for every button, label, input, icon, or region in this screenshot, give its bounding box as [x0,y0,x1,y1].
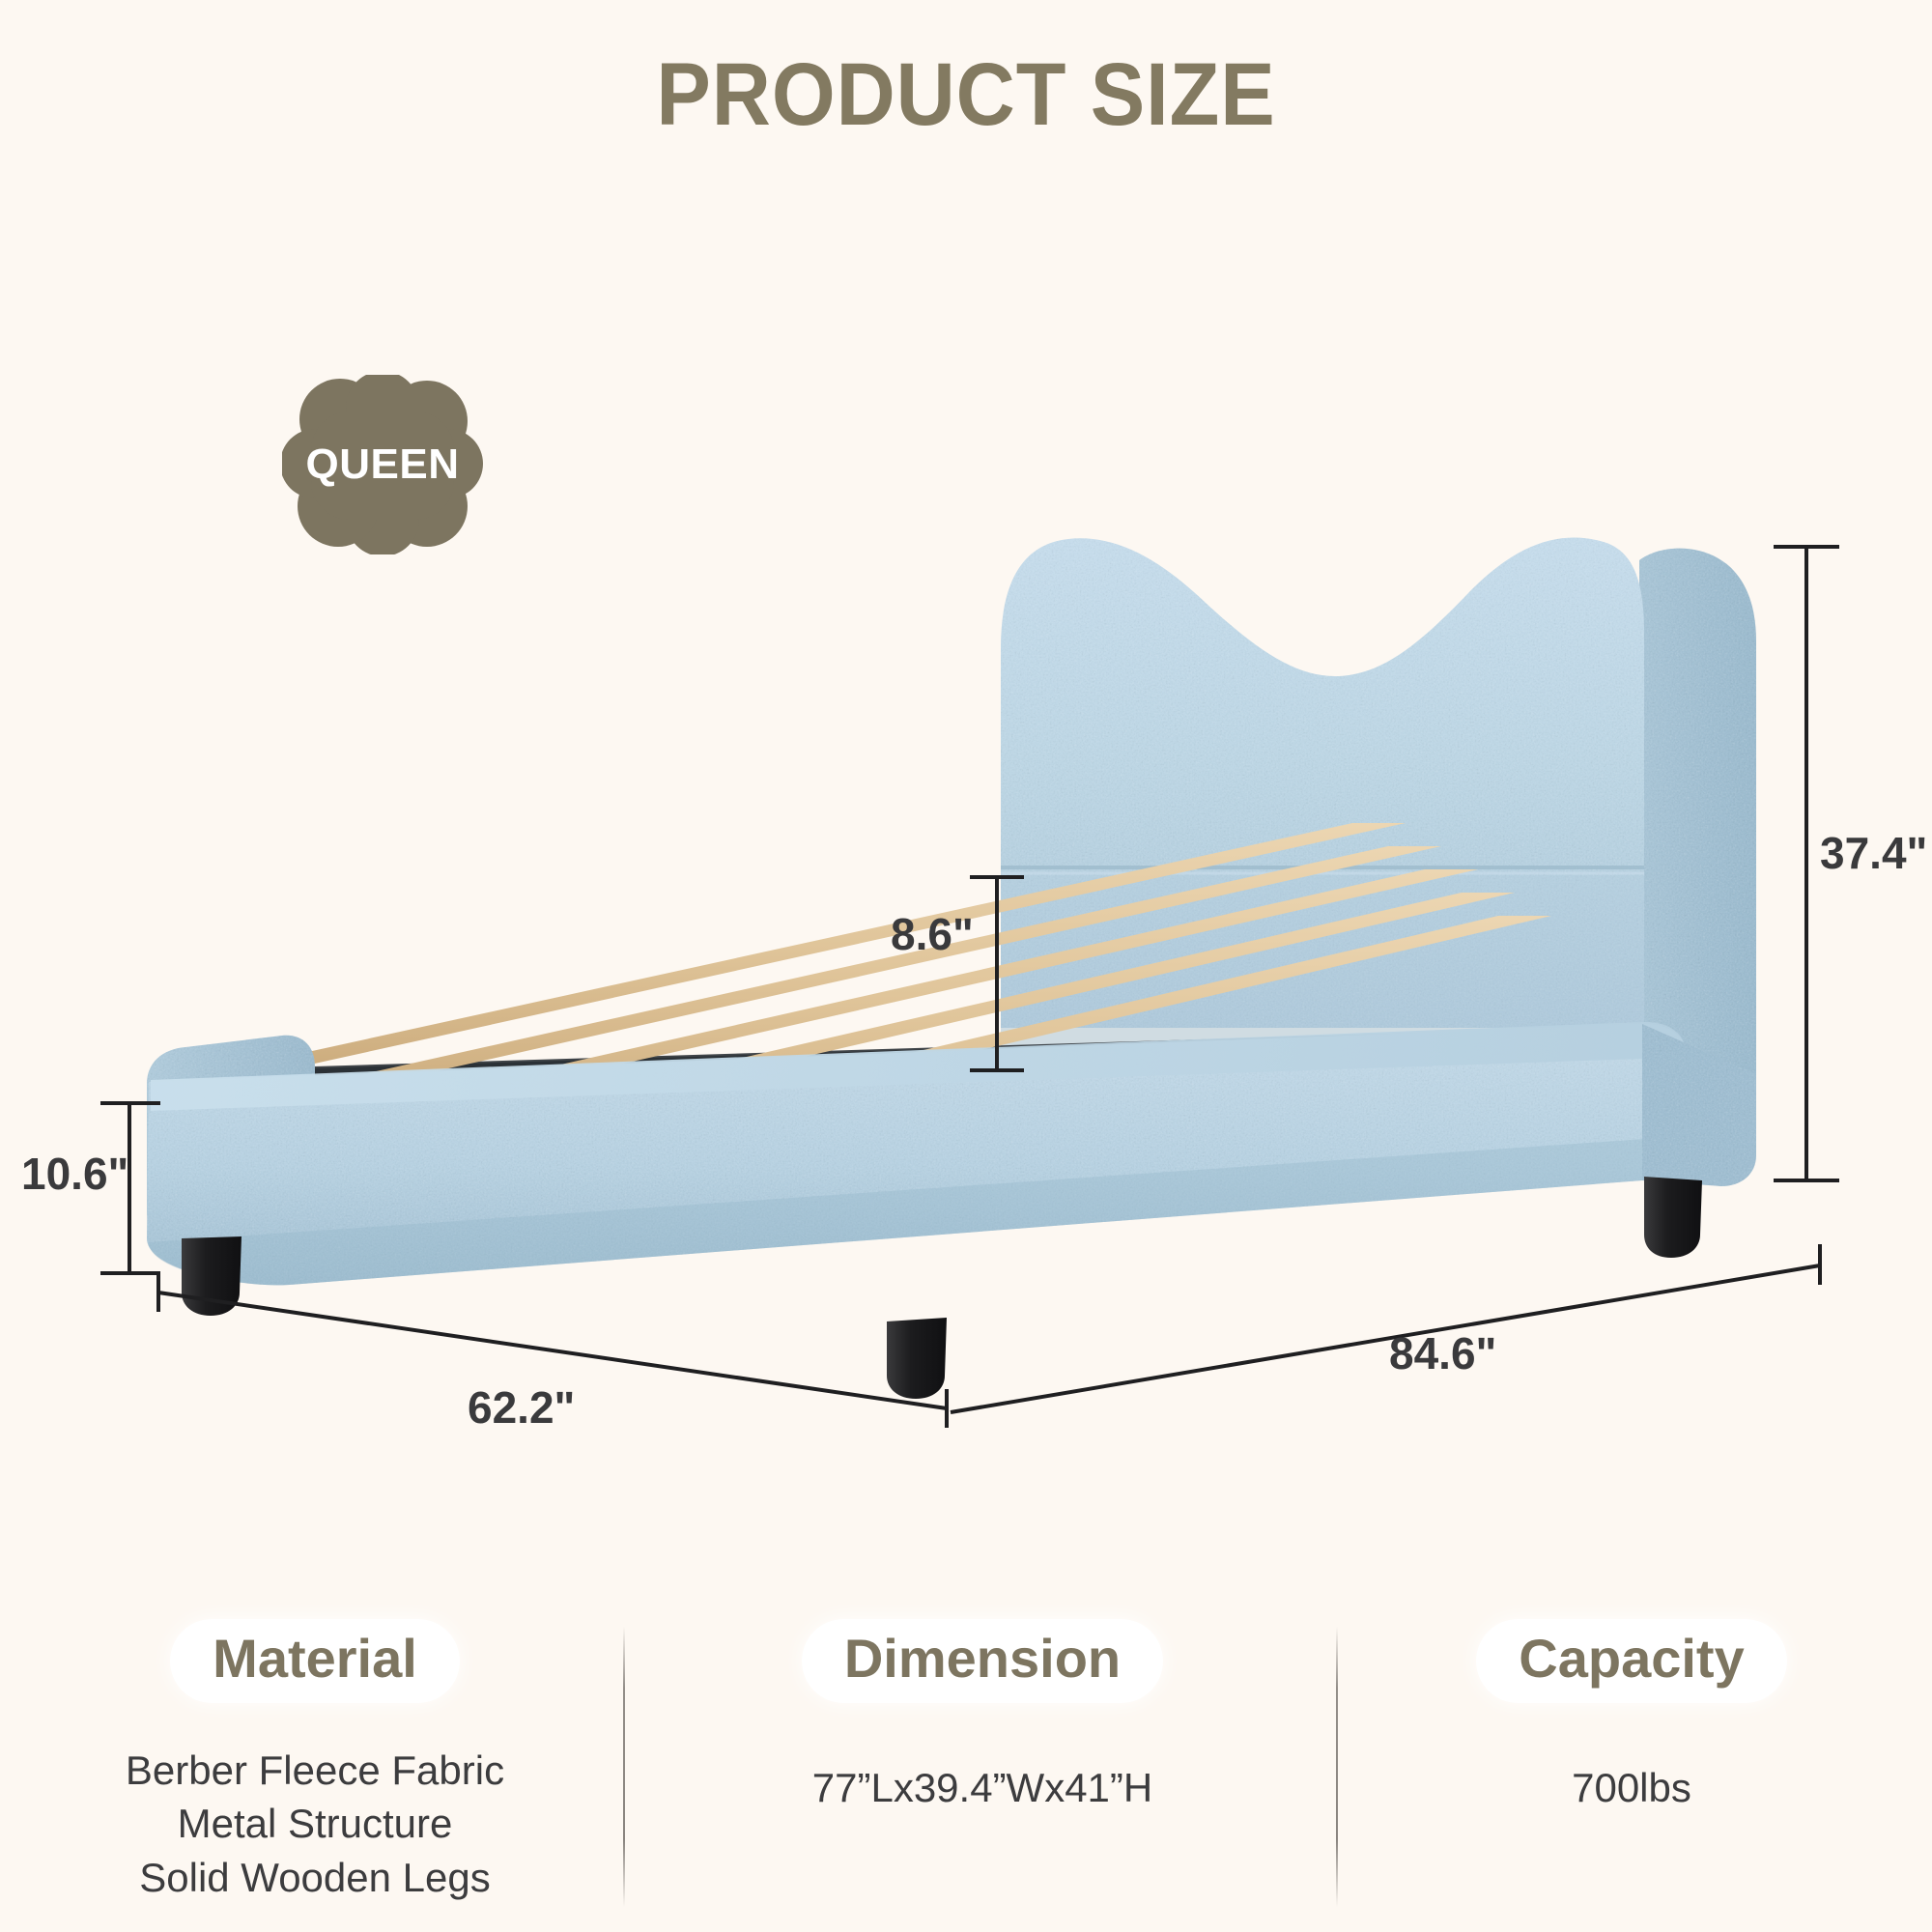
spec-body-dimension: 77”Lx39.4”Wx41”H [649,1761,1316,1814]
dimension-label-total-height: 37.4" [1820,827,1927,879]
spec-heading-capacity: Capacity [1476,1619,1786,1703]
dimension-label-width: 62.2" [468,1381,575,1434]
spec-column-dimension: Dimension 77”Lx39.4”Wx41”H [649,1619,1316,1814]
spec-strip: Material Berber Fleece Fabric Metal Stru… [0,1619,1932,1932]
spec-heading-dimension: Dimension [802,1619,1163,1703]
infographic-canvas: PRODUCT SIZE QUEEN [0,0,1932,1932]
spec-divider-2 [1336,1627,1338,1907]
spec-column-capacity: Capacity 700lbs [1356,1619,1907,1814]
dimension-label-frame-height: 10.6" [21,1148,128,1200]
dimension-label-headboard-panel: 8.6" [891,908,974,960]
spec-column-material: Material Berber Fleece Fabric Metal Stru… [25,1619,605,1904]
dimension-label-length: 84.6" [1389,1327,1496,1379]
spec-divider-1 [623,1627,625,1907]
spec-body-material: Berber Fleece Fabric Metal Structure Sol… [25,1744,605,1904]
spec-body-capacity: 700lbs [1356,1761,1907,1814]
spec-heading-material: Material [170,1619,460,1703]
